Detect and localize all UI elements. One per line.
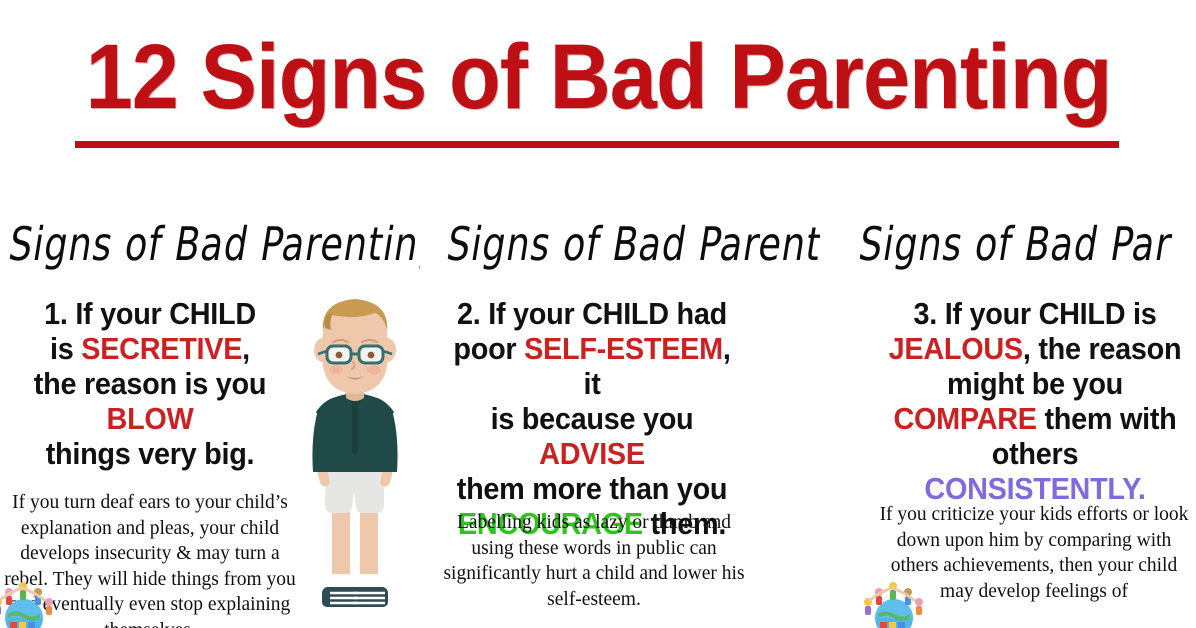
panel-1-headline: 1. If your CHILD is SECRETIVE, the reaso… <box>11 296 290 471</box>
panel-sign-2: Signs of Bad Parenting 2. If your CHILD … <box>400 196 820 628</box>
panel-2-body-text: Labelling kids as lazy or dumb and using… <box>438 510 750 612</box>
panel-3-keyword-compare: COMPARE <box>893 401 1036 436</box>
panel-sign-3: Signs of Bad Par 3. If your CHILD is JEA… <box>850 196 1196 628</box>
panel-3-line-2b: , the reason <box>1023 331 1181 366</box>
panel-2-keyword-advise: ADVISE <box>539 436 645 471</box>
panel-2-line-1: 2. If your CHILD had <box>457 296 727 331</box>
panel-3-line-1: 3. If your CHILD is <box>913 296 1156 331</box>
panel-2-headline: 2. If your CHILD had poor SELF-ESTEEM, i… <box>447 296 737 541</box>
panel-2-line-2a: poor <box>453 331 524 366</box>
panel-sign-1: Signs of Bad Parenting 1. If your CHILD … <box>0 196 420 628</box>
panel-1-script-header: Signs of Bad Parenting <box>5 216 420 272</box>
page-title: 12 Signs of Bad Parenting <box>85 28 1111 126</box>
children-around-globe-icon <box>860 580 928 628</box>
panel-3-line-4b: them with <box>1037 401 1177 436</box>
panel-1-keyword-blow: BLOW <box>107 401 194 436</box>
panel-3-line-5a: others <box>992 436 1078 471</box>
panel-3-keyword-consistently: CONSISTENTLY. <box>924 471 1145 506</box>
title-block: 12 Signs of Bad Parenting <box>0 28 1196 178</box>
panel-2-line-4: them more than you <box>457 471 727 506</box>
panel-3-keyword-jealous: JEALOUS <box>889 331 1023 366</box>
panel-3-line-3: might be you <box>947 366 1123 401</box>
panel-2-script-header: Signs of Bad Parenting <box>443 216 820 272</box>
panel-3-script-header: Signs of Bad Par <box>855 216 1176 272</box>
children-around-globe-icon <box>0 580 58 628</box>
panel-3-headline: 3. If your CHILD is JEALOUS, the reason … <box>885 296 1184 506</box>
boy-with-glasses-icon <box>296 288 414 618</box>
panel-1-keyword-secretive: SECRETIVE <box>81 331 242 366</box>
panel-1-line-3a: the reason is you <box>34 366 266 401</box>
panel-1-line-2c: , <box>242 331 250 366</box>
panel-1-line-1: 1. If your CHILD <box>44 296 256 331</box>
panel-1-line-2a: is <box>50 331 81 366</box>
panel-1-line-4: things very big. <box>46 436 255 471</box>
panel-2-line-3a: is because you <box>491 401 694 436</box>
panel-2-keyword-self-esteem: SELF-ESTEEM <box>524 331 723 366</box>
title-underline-rule <box>75 141 1119 148</box>
